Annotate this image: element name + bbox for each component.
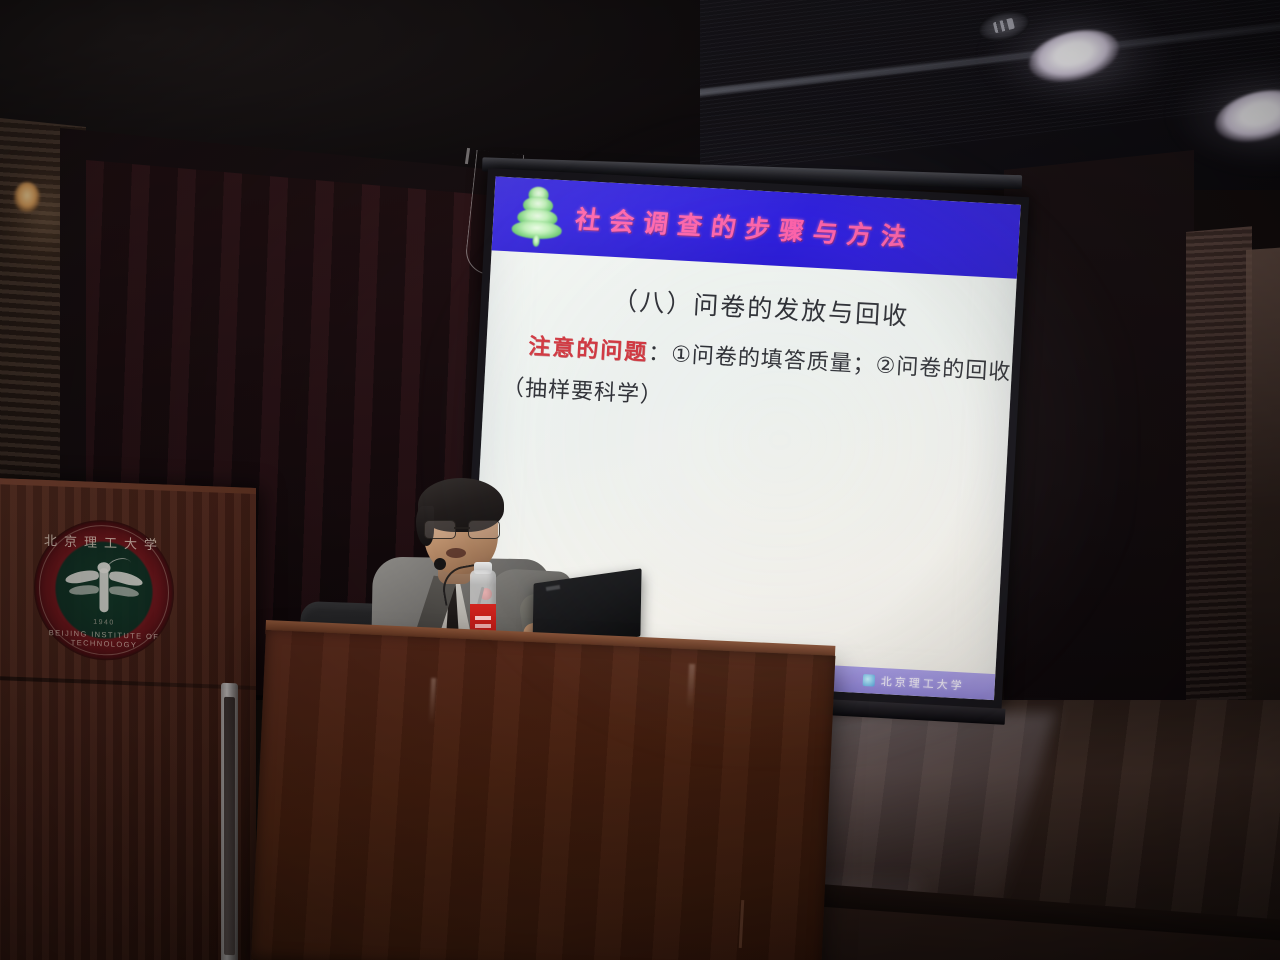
university-emblem: 北京理工大学 1940 BEIJING INSTITUTE OF TECHNOL… — [34, 518, 174, 663]
glasses-icon — [422, 520, 502, 537]
slide-highlight-text: 注意的问题 — [528, 334, 649, 365]
dove-icon — [65, 561, 143, 620]
speaker-mouth — [446, 548, 466, 558]
slide-section-title: （八）问卷的发放与回收 — [522, 276, 999, 338]
lecture-hall-scene: 社会调查的步骤与方法 （八）问卷的发放与回收 注意的问题：①问卷的填答质量；②问… — [0, 0, 1280, 960]
lectern-panel-seam — [0, 676, 256, 690]
slide-header-title: 社会调查的步骤与方法 — [573, 200, 917, 254]
lectern-metal-strip — [221, 683, 238, 960]
microphone-icon — [434, 558, 446, 570]
green-pine-tree-logo-icon — [510, 183, 565, 248]
slide-footer-text: 北京理工大学 — [880, 673, 965, 694]
speaker-table — [251, 630, 835, 960]
right-wall-edge — [1246, 247, 1280, 770]
lectern: 北京理工大学 1940 BEIJING INSTITUTE OF TECHNOL… — [0, 478, 256, 960]
wall-sconce-icon — [14, 182, 40, 212]
footer-logo-icon — [863, 674, 876, 687]
right-wood-panel — [1186, 226, 1252, 732]
